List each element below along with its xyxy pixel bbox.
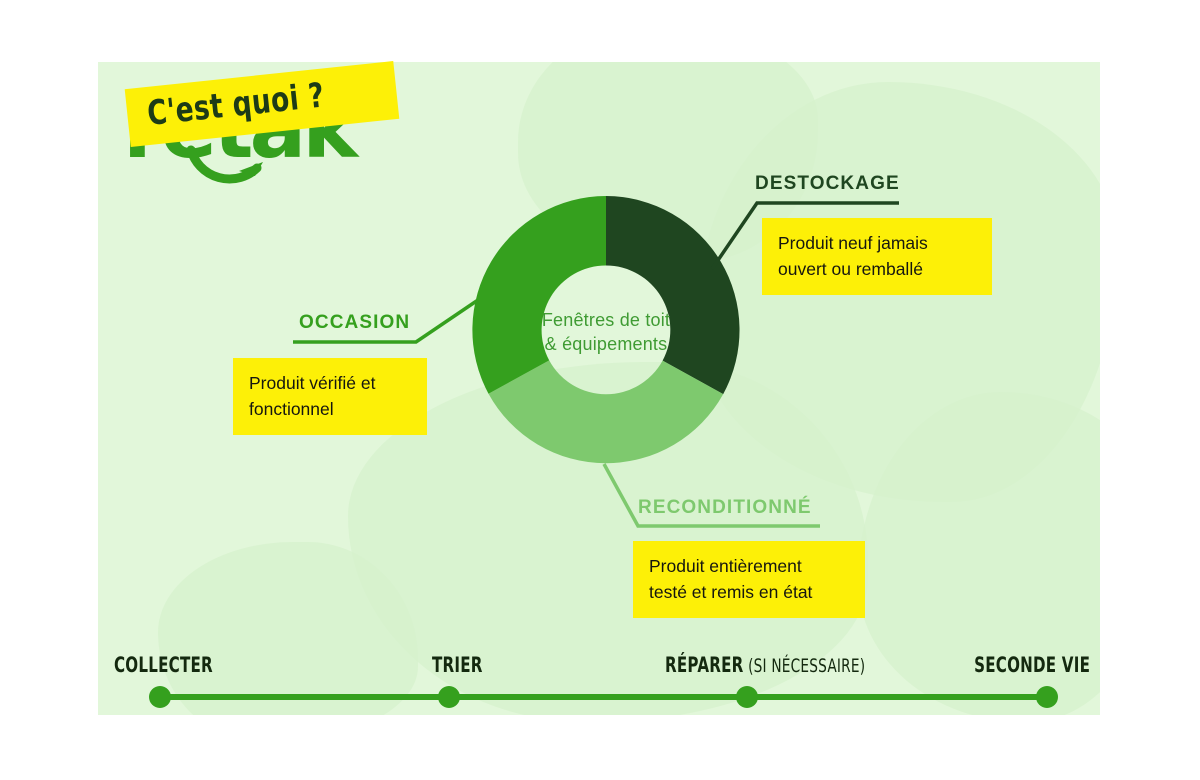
callout-label-destockage: DESTOCKAGE	[755, 173, 900, 195]
callout-box-reconditionne: Produit entièrement testé et remis en ét…	[633, 541, 865, 618]
donut-segment-reconditionne	[489, 360, 724, 463]
donut-center-label: Fenêtres de toit & équipements	[520, 300, 692, 364]
timeline-label-collecter: COLLECTER	[114, 653, 251, 677]
callout-label-occasion: OCCASION	[299, 312, 410, 334]
timeline-label-reparer-text: RÉPARER	[665, 653, 744, 677]
donut-segment-destockage	[606, 196, 740, 394]
timeline-track	[159, 694, 1048, 700]
timeline-label-reparer-note: (SI NÉCESSAIRE)	[744, 655, 866, 677]
donut-center-line2: & équipements	[545, 332, 668, 356]
timeline-label-seconde-vie-text: SECONDE VIE	[974, 653, 1090, 677]
timeline-label-trier: TRIER	[432, 653, 502, 677]
timeline-dot-collecter	[149, 686, 171, 708]
timeline-dot-reparer	[736, 686, 758, 708]
timeline-label-collecter-text: COLLECTER	[114, 653, 213, 677]
timeline-label-seconde-vie: SECONDE VIE	[900, 653, 1090, 677]
donut-center-line1: Fenêtres de toit	[542, 308, 670, 332]
donut-segment-occasion	[472, 196, 606, 394]
timeline-dot-trier	[438, 686, 460, 708]
tagline-text: C'est quoi ?	[145, 76, 326, 134]
callout-box-occasion: Produit vérifié et fonctionnel	[233, 358, 427, 435]
timeline-dot-seconde-vie	[1036, 686, 1058, 708]
infographic-canvas: retak C'est quoi ? Fenêtres de toit & éq…	[0, 0, 1200, 780]
callout-box-destockage: Produit neuf jamais ouvert ou remballé	[762, 218, 992, 295]
callout-label-reconditionne: RECONDITIONNÉ	[638, 497, 812, 519]
timeline-label-trier-text: TRIER	[432, 653, 483, 677]
